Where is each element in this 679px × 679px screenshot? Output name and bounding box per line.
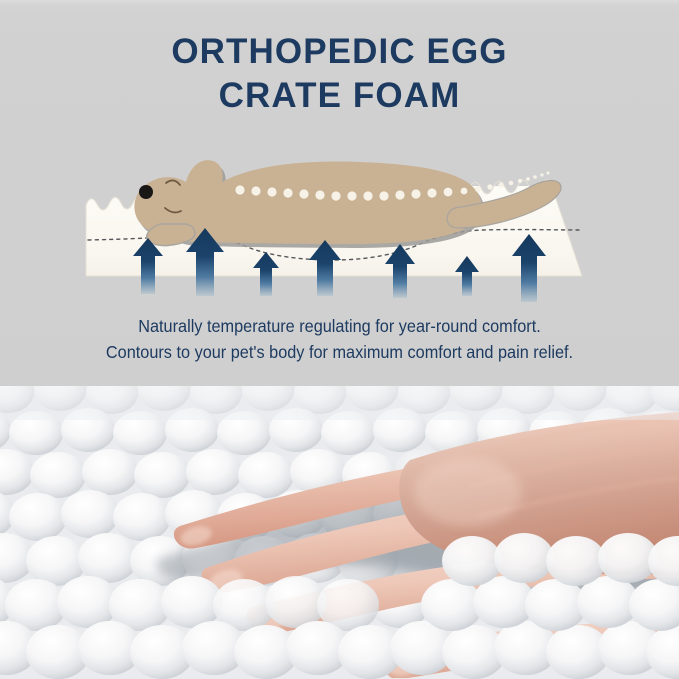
foam-photo-panel [0, 386, 679, 679]
top-info-panel: ORTHOPEDIC EGG CRATE FOAM [0, 0, 679, 386]
feature-caption-line-2: Contours to your pet's body for maximum … [24, 339, 655, 365]
page-title-line-2: CRATE FOAM [0, 74, 679, 118]
page-title-line-1: ORTHOPEDIC EGG [0, 30, 679, 74]
product-infographic: ORTHOPEDIC EGG CRATE FOAM [0, 0, 679, 679]
hand-pressing-foam-photo [0, 386, 679, 679]
hand-knuckle-highlight [414, 458, 522, 526]
feature-caption: Naturally temperature regulating for yea… [24, 313, 655, 365]
dog-nose [139, 185, 153, 199]
dog-on-foam-illustration [0, 126, 679, 311]
feature-caption-line-1: Naturally temperature regulating for yea… [24, 313, 655, 339]
page-title: ORTHOPEDIC EGG CRATE FOAM [0, 30, 679, 118]
